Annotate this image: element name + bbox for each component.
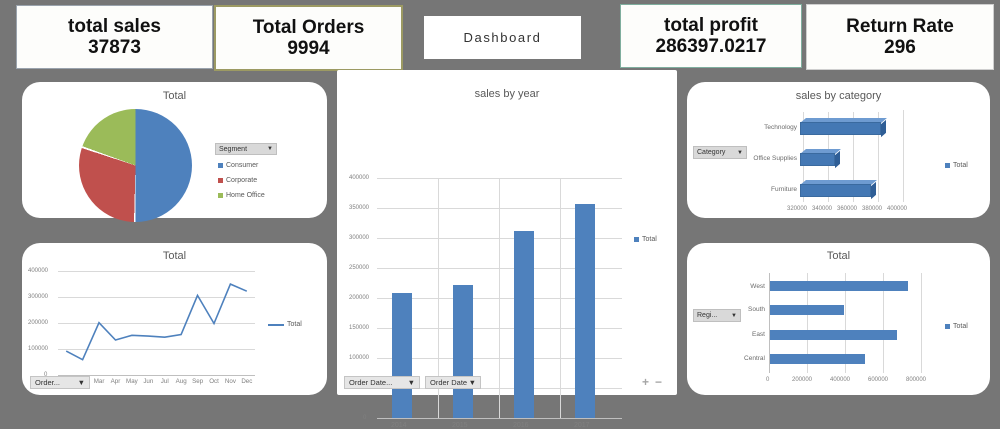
xtick-800000: 800000: [906, 377, 926, 383]
gridline: [903, 110, 904, 202]
legend-item-total: Total: [634, 236, 657, 243]
chevron-down-icon: ▼: [469, 378, 476, 387]
ytick-350000: 350000: [349, 205, 369, 211]
sales-by-region-title: Total: [687, 250, 990, 262]
legend-swatch-total: [945, 163, 950, 168]
gridline: [499, 178, 500, 418]
expand-field-button[interactable]: +: [642, 377, 649, 387]
monthly-line-series: [58, 271, 255, 376]
kpi-total-orders: Total Orders 9994: [214, 5, 403, 71]
legend-label-total: Total: [287, 321, 302, 328]
ytick-200000: 200000: [349, 295, 369, 301]
legend-swatch-total: [268, 324, 284, 326]
dashboard-title: Dashboard: [424, 16, 581, 59]
kpi-total-profit: total profit 286397.0217: [620, 4, 802, 68]
region-filter-label: Regi...: [697, 312, 717, 319]
order-date-hierarchy-button[interactable]: Order Date... ▼: [344, 376, 420, 389]
ytick-200000: 200000: [28, 320, 48, 326]
panel-monthly-line: Total 400000 300000 200000 100000 0 Jan …: [22, 243, 327, 395]
legend-swatch-consumer: [218, 163, 223, 168]
legend-label-home-office: Home Office: [226, 192, 265, 199]
chevron-down-icon: ▼: [408, 378, 415, 387]
xtick-jun: Jun: [140, 378, 156, 385]
kpi-total-orders-label: Total Orders: [253, 17, 365, 38]
bar-2015: [453, 285, 473, 418]
legend-item-total: Total: [945, 162, 968, 169]
segment-pie-title: Total: [22, 90, 327, 102]
ytick-150000: 150000: [349, 325, 369, 331]
chevron-down-icon: ▼: [731, 313, 737, 319]
legend-label-total: Total: [953, 323, 968, 330]
order-date-field-button[interactable]: Order... ▼: [30, 376, 90, 389]
kpi-total-sales-label: total sales: [68, 16, 161, 37]
kpi-return-rate: Return Rate 296: [806, 4, 994, 70]
panel-sales-by-year: sales by year 400000 350000 300000 25000…: [337, 70, 677, 395]
bar-2016: [514, 231, 534, 418]
ylabel-central: Central: [713, 355, 765, 362]
bar-2017: [575, 204, 595, 418]
panel-segment-pie: Total Segment ▼ Consumer Corporate Home …: [22, 82, 327, 218]
order-date-field-label: Order...: [35, 378, 60, 387]
xtick-2014: 2014: [391, 422, 407, 429]
gridline: [921, 273, 922, 373]
ylabel-east: East: [717, 331, 765, 338]
ylabel-west: West: [717, 283, 765, 290]
bar-west: [770, 281, 908, 291]
kpi-total-sales: total sales 37873: [16, 5, 213, 69]
xtick-360000: 360000: [837, 206, 857, 212]
xtick-aug: Aug: [173, 378, 189, 385]
xtick-2015: 2015: [452, 422, 468, 429]
chevron-down-icon: ▼: [78, 378, 85, 387]
legend-item-home-office: Home Office: [218, 192, 265, 199]
xtick-dec: Dec: [239, 378, 255, 385]
ytick-250000: 250000: [349, 265, 369, 271]
gridline: [560, 178, 561, 418]
xtick-nov: Nov: [222, 378, 238, 385]
legend-item-total: Total: [268, 321, 302, 328]
xtick-sep: Sep: [189, 378, 205, 385]
xtick-oct: Oct: [206, 378, 222, 385]
bar-central: [770, 354, 865, 364]
region-filter-button[interactable]: Regi... ▼: [693, 309, 741, 322]
legend-label-consumer: Consumer: [226, 162, 258, 169]
kpi-return-rate-value: 296: [884, 37, 916, 58]
xtick-2016: 2016: [513, 422, 529, 429]
category-filter-label: Category: [697, 149, 725, 156]
xtick-400000: 400000: [830, 377, 850, 383]
kpi-total-profit-label: total profit: [664, 15, 758, 36]
ytick-100000: 100000: [349, 355, 369, 361]
legend-swatch-home-office: [218, 193, 223, 198]
xtick-apr: Apr: [107, 378, 123, 385]
pie-chart: [79, 109, 192, 222]
kpi-return-rate-label: Return Rate: [846, 16, 954, 37]
bar-east: [770, 330, 897, 340]
bar-2014: [392, 293, 412, 418]
xtick-200000: 200000: [792, 377, 812, 383]
xtick-may: May: [124, 378, 140, 385]
legend-label-total: Total: [642, 236, 657, 243]
xtick-320000: 320000: [787, 206, 807, 212]
xtick-jul: Jul: [157, 378, 173, 385]
category-filter-button[interactable]: Category ▼: [693, 146, 747, 159]
panel-sales-by-region: Total West South East Central 0 200000 4…: [687, 243, 990, 395]
xtick-2017: 2017: [574, 422, 590, 429]
legend-swatch-total: [945, 324, 950, 329]
order-date-field-button[interactable]: Order Date ▼: [425, 376, 481, 389]
sales-by-year-title: sales by year: [337, 88, 677, 100]
bar-south: [770, 305, 844, 315]
segment-filter-label: Segment: [219, 146, 247, 153]
segment-filter-button[interactable]: Segment ▼: [215, 143, 277, 155]
xtick-400000: 400000: [887, 206, 907, 212]
collapse-field-button[interactable]: −: [655, 377, 662, 387]
panel-sales-by-category: sales by category Technology Office Supp…: [687, 82, 990, 218]
legend-swatch-corporate: [218, 178, 223, 183]
xtick-340000: 340000: [812, 206, 832, 212]
legend-swatch-total: [634, 237, 639, 242]
legend-item-corporate: Corporate: [218, 177, 257, 184]
sales-by-category-title: sales by category: [687, 90, 990, 102]
order-date-hierarchy-label: Order Date...: [349, 378, 392, 387]
xtick-600000: 600000: [868, 377, 888, 383]
ytick-100000: 100000: [28, 346, 48, 352]
kpi-total-sales-value: 37873: [88, 37, 141, 58]
legend-item-consumer: Consumer: [218, 162, 258, 169]
chevron-down-icon: ▼: [737, 150, 743, 156]
xtick-380000: 380000: [862, 206, 882, 212]
axis-line: [377, 418, 622, 419]
order-date-field-label: Order Date: [430, 378, 467, 387]
ytick-400000: 400000: [349, 175, 369, 181]
monthly-line-title: Total: [22, 250, 327, 262]
ytick-400000: 400000: [28, 268, 48, 274]
ytick-0: 0: [363, 415, 366, 421]
chevron-down-icon: ▼: [267, 146, 273, 152]
ytick-300000: 300000: [28, 294, 48, 300]
xtick-mar: Mar: [91, 378, 107, 385]
xtick-0: 0: [766, 377, 769, 383]
kpi-total-orders-value: 9994: [287, 38, 329, 59]
ytick-300000: 300000: [349, 235, 369, 241]
ylabel-furniture: Furniture: [727, 186, 797, 193]
legend-item-total: Total: [945, 323, 968, 330]
legend-label-total: Total: [953, 162, 968, 169]
kpi-total-profit-value: 286397.0217: [656, 36, 767, 57]
ylabel-technology: Technology: [727, 124, 797, 131]
legend-label-corporate: Corporate: [226, 177, 257, 184]
